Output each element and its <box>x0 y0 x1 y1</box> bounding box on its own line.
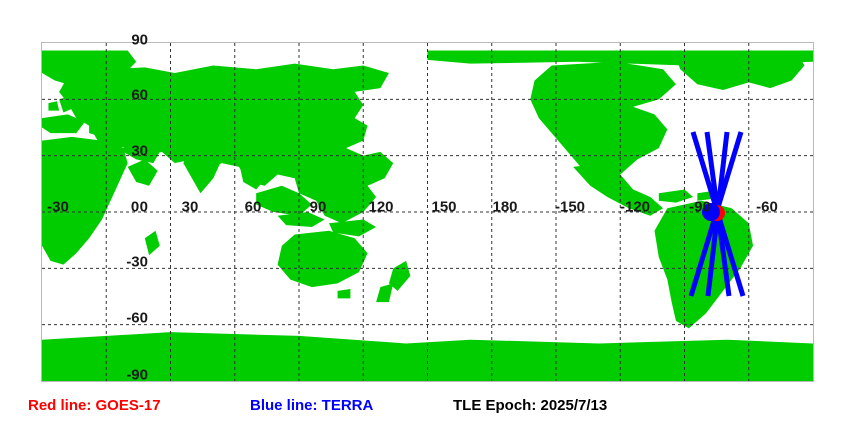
lon-tick-120: 120 <box>368 200 393 215</box>
lat-tick-60: 60 <box>131 88 148 103</box>
lon-tick--120: -120 <box>620 200 650 215</box>
map-legend: Red line: GOES-17 Blue line: TERRA TLE E… <box>0 396 850 420</box>
lat-tick--60: -60 <box>126 311 148 326</box>
lat-tick--30: -30 <box>126 255 148 270</box>
lon-tick-90: 90 <box>310 200 327 215</box>
lat-tick-0: 0 <box>140 200 148 215</box>
legend-red-line-goes17: Red line: GOES-17 <box>28 396 161 416</box>
legend-blue-line-terra: Blue line: TERRA <box>250 396 373 416</box>
lat-tick-90: 90 <box>131 33 148 48</box>
lon-tick-0: 0 <box>131 200 139 215</box>
lon-tick-180: 180 <box>492 200 517 215</box>
lat-tick-30: 30 <box>131 144 148 159</box>
lon-tick-60: 60 <box>245 200 262 215</box>
lon-tick-150: 150 <box>431 200 456 215</box>
lon-tick--90: -90 <box>689 200 711 215</box>
lon-tick--150: -150 <box>555 200 585 215</box>
lon-tick--30: -30 <box>47 200 69 215</box>
lon-tick-30: 30 <box>182 200 199 215</box>
lat-tick--90: -90 <box>126 368 148 383</box>
lon-tick--60: -60 <box>756 200 778 215</box>
legend-tle-epoch: TLE Epoch: 2025/7/13 <box>453 396 607 416</box>
